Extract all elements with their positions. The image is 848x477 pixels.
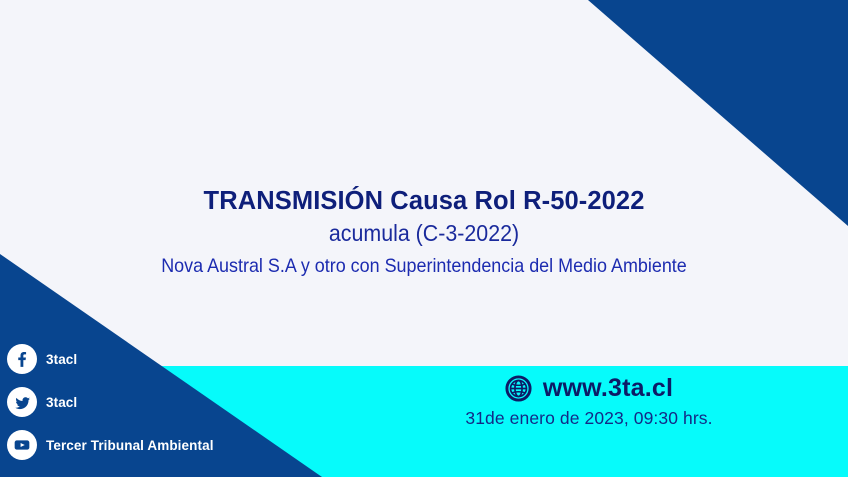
social-label-facebook: 3tacl — [46, 352, 77, 367]
youtube-icon — [7, 430, 37, 460]
broadcast-announcement-slide: TRANSMISIÓN Causa Rol R-50-2022 acumula … — [0, 0, 848, 477]
twitter-icon — [7, 387, 37, 417]
social-label-youtube: Tercer Tribunal Ambiental — [46, 438, 214, 453]
social-item-youtube[interactable]: Tercer Tribunal Ambiental — [7, 430, 214, 460]
social-item-facebook[interactable]: 3tacl — [7, 344, 214, 374]
social-item-twitter[interactable]: 3tacl — [7, 387, 214, 417]
social-label-twitter: 3tacl — [46, 395, 77, 410]
facebook-icon — [7, 344, 37, 374]
social-links-list: 3tacl 3tacl Tercer Tribunal Ambiental — [7, 344, 214, 460]
